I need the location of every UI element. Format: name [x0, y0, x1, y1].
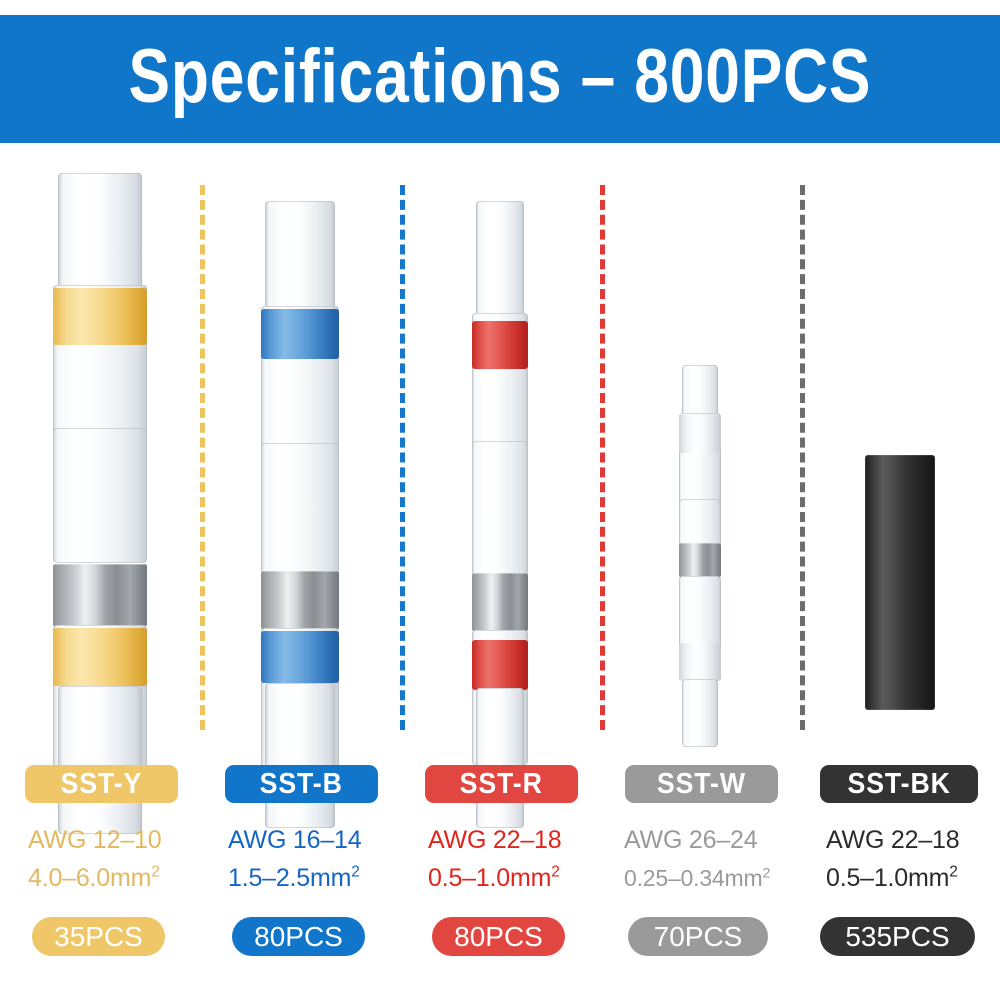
spec-text-sst-y: AWG 12–10 4.0–6.0mm2 [28, 821, 203, 897]
spec-column-sst-y: SST-Y AWG 12–10 4.0–6.0mm2 35PCS [0, 755, 200, 1000]
product-name-badge-sst-w[interactable]: SST-W [625, 765, 778, 803]
quantity-label: 535PCS [845, 923, 949, 951]
spec-text-sst-r: AWG 22–18 0.5–1.0mm2 [428, 821, 603, 897]
tube-segment-top [265, 201, 335, 321]
quantity-label: 35PCS [54, 923, 143, 951]
product-name-badge-sst-y[interactable]: SST-Y [25, 765, 178, 803]
connector-body-sst-w [679, 143, 721, 755]
product-image-sst-r [400, 143, 600, 755]
awg-range: AWG 12–10 [28, 821, 203, 859]
solder-band [261, 571, 339, 629]
heat-shrink-tube [865, 455, 935, 710]
quantity-pill-sst-w[interactable]: 70PCS [628, 917, 768, 956]
area-value: 4.0–6.0mm [28, 864, 151, 892]
area-unit-exponent: 2 [762, 865, 770, 881]
cross-section-area: 0.5–1.0mm2 [826, 859, 1000, 897]
product-image-sst-y [0, 143, 200, 755]
area-unit-exponent: 2 [949, 864, 957, 881]
product-image-sst-bk [800, 143, 1000, 755]
quantity-pill-sst-b[interactable]: 80PCS [232, 917, 365, 956]
awg-range: AWG 26–24 [624, 821, 799, 859]
specification-row: SST-Y AWG 12–10 4.0–6.0mm2 35PCS SST-B A… [0, 755, 1000, 1000]
quantity-label: 80PCS [254, 923, 343, 951]
connector-body-sst-b [261, 143, 339, 755]
sealing-ring-top [679, 415, 721, 453]
awg-range: AWG 22–18 [428, 821, 603, 859]
product-image-strip [0, 143, 1000, 755]
area-value: 0.5–1.0mm [826, 864, 949, 892]
tube-segment-center [472, 441, 528, 576]
quantity-pill-sst-r[interactable]: 80PCS [432, 917, 565, 956]
area-unit-exponent: 2 [351, 864, 359, 881]
product-name-label: SST-W [657, 770, 746, 799]
sealing-ring-top [53, 288, 147, 345]
spec-text-sst-bk: AWG 22–18 0.5–1.0mm2 [826, 821, 1000, 897]
awg-range: AWG 16–14 [228, 821, 403, 859]
quantity-pill-sst-y[interactable]: 35PCS [32, 917, 165, 956]
tube-segment-center [261, 443, 339, 573]
sealing-ring-bottom [261, 631, 339, 683]
spec-column-sst-bk: SST-BK AWG 22–18 0.5–1.0mm2 535PCS [800, 755, 1000, 1000]
quantity-label: 70PCS [654, 923, 743, 951]
product-image-sst-b [200, 143, 400, 755]
cross-section-area: 0.5–1.0mm2 [428, 859, 603, 897]
page-title: Specifications – 800PCS [129, 39, 872, 119]
area-value: 0.5–1.0mm [428, 864, 551, 892]
awg-range: AWG 22–18 [826, 821, 1000, 859]
area-unit-exponent: 2 [151, 864, 159, 881]
quantity-pill-sst-bk[interactable]: 535PCS [820, 917, 975, 956]
spec-text-sst-w: AWG 26–24 0.25–0.34mm2 [624, 821, 799, 897]
product-name-badge-sst-b[interactable]: SST-B [225, 765, 378, 803]
product-name-label: SST-B [260, 770, 343, 799]
cross-section-area: 4.0–6.0mm2 [28, 859, 203, 897]
tube-segment-center [53, 428, 147, 563]
cross-section-area: 0.25–0.34mm2 [624, 859, 799, 897]
cross-section-area: 1.5–2.5mm2 [228, 859, 403, 897]
sealing-ring-top [261, 309, 339, 359]
spec-column-sst-b: SST-B AWG 16–14 1.5–2.5mm2 80PCS [200, 755, 400, 1000]
header-bar: Specifications – 800PCS [0, 15, 1000, 143]
connector-body-sst-y [53, 143, 147, 755]
sealing-ring-bottom [679, 643, 721, 681]
product-name-label: SST-BK [847, 770, 950, 799]
tube-segment-top [58, 173, 142, 303]
solder-band [53, 564, 147, 626]
sealing-ring-bottom [472, 640, 528, 690]
sealing-ring-bottom [53, 628, 147, 686]
solder-band [472, 573, 528, 631]
connector-body-sst-r [472, 143, 528, 755]
area-unit-exponent: 2 [551, 864, 559, 881]
product-image-sst-w [600, 143, 800, 755]
area-value: 0.25–0.34mm [624, 865, 762, 891]
sealing-ring-top [472, 321, 528, 369]
spec-column-sst-r: SST-R AWG 22–18 0.5–1.0mm2 80PCS [400, 755, 600, 1000]
quantity-label: 80PCS [454, 923, 543, 951]
area-value: 1.5–2.5mm [228, 864, 351, 892]
tube-segment-bottom [682, 679, 718, 747]
product-name-badge-sst-r[interactable]: SST-R [425, 765, 578, 803]
product-name-label: SST-Y [61, 770, 143, 799]
solder-band [679, 543, 721, 577]
product-name-label: SST-R [460, 770, 543, 799]
spec-text-sst-b: AWG 16–14 1.5–2.5mm2 [228, 821, 403, 897]
spec-column-sst-w: SST-W AWG 26–24 0.25–0.34mm2 70PCS [600, 755, 800, 1000]
tube-segment-top [476, 201, 524, 321]
product-name-badge-sst-bk[interactable]: SST-BK [820, 765, 978, 803]
